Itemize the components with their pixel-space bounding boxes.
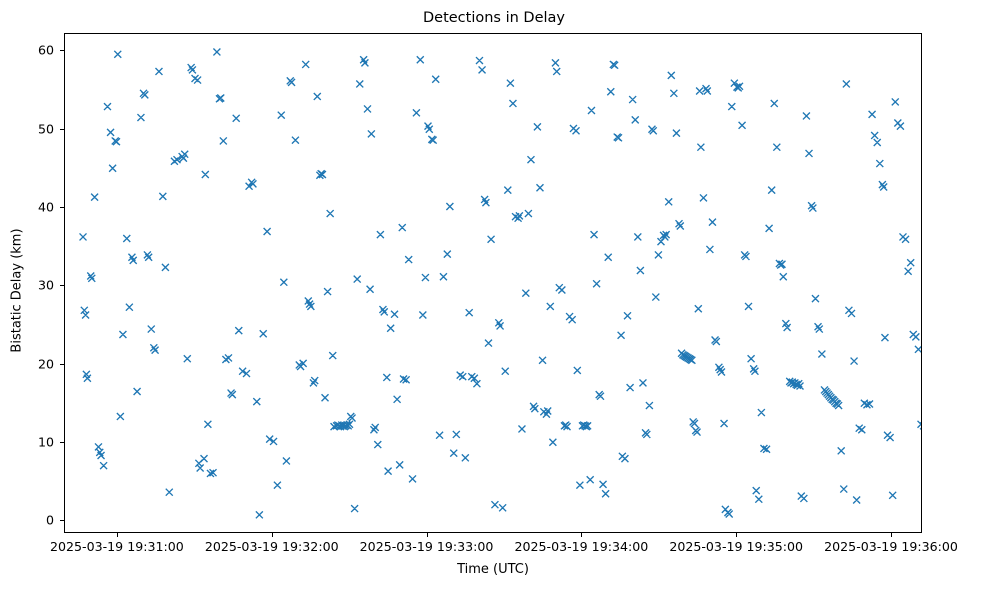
scatter-plot-canvas	[65, 34, 921, 532]
x-tick-mark	[581, 533, 582, 537]
y-tick-mark	[60, 129, 64, 130]
y-tick-label: 60	[38, 43, 54, 58]
x-axis-label: Time (UTC)	[64, 562, 922, 577]
y-tick-label: 0	[46, 513, 54, 528]
y-tick-mark	[60, 50, 64, 51]
x-tick-mark	[117, 533, 118, 537]
x-tick-label: 2025-03-19 19:34:00	[514, 539, 648, 554]
y-tick-label: 30	[38, 278, 54, 293]
y-tick-label: 40	[38, 199, 54, 214]
x-tick-label: 2025-03-19 19:32:00	[205, 539, 339, 554]
x-tick-label: 2025-03-19 19:33:00	[360, 539, 494, 554]
y-tick-mark	[60, 520, 64, 521]
x-tick-label: 2025-03-19 19:31:00	[50, 539, 184, 554]
chart-title: Detections in Delay	[0, 10, 988, 26]
x-tick-label: 2025-03-19 19:36:00	[824, 539, 958, 554]
y-tick-label: 50	[38, 121, 54, 136]
plot-axes	[64, 33, 922, 533]
y-tick-mark	[60, 285, 64, 286]
matplotlib-figure: Detections in Delay 2025-03-19 19:31:002…	[0, 0, 988, 590]
y-tick-mark	[60, 442, 64, 443]
y-axis-label: Bistatic Delay (km)	[10, 171, 25, 411]
x-tick-mark	[891, 533, 892, 537]
scatter-markers	[80, 48, 921, 518]
y-tick-label: 10	[38, 435, 54, 450]
x-tick-mark	[736, 533, 737, 537]
x-tick-mark	[272, 533, 273, 537]
x-tick-mark	[427, 533, 428, 537]
y-tick-mark	[60, 364, 64, 365]
x-tick-label: 2025-03-19 19:35:00	[669, 539, 803, 554]
y-tick-label: 20	[38, 356, 54, 371]
y-tick-mark	[60, 207, 64, 208]
